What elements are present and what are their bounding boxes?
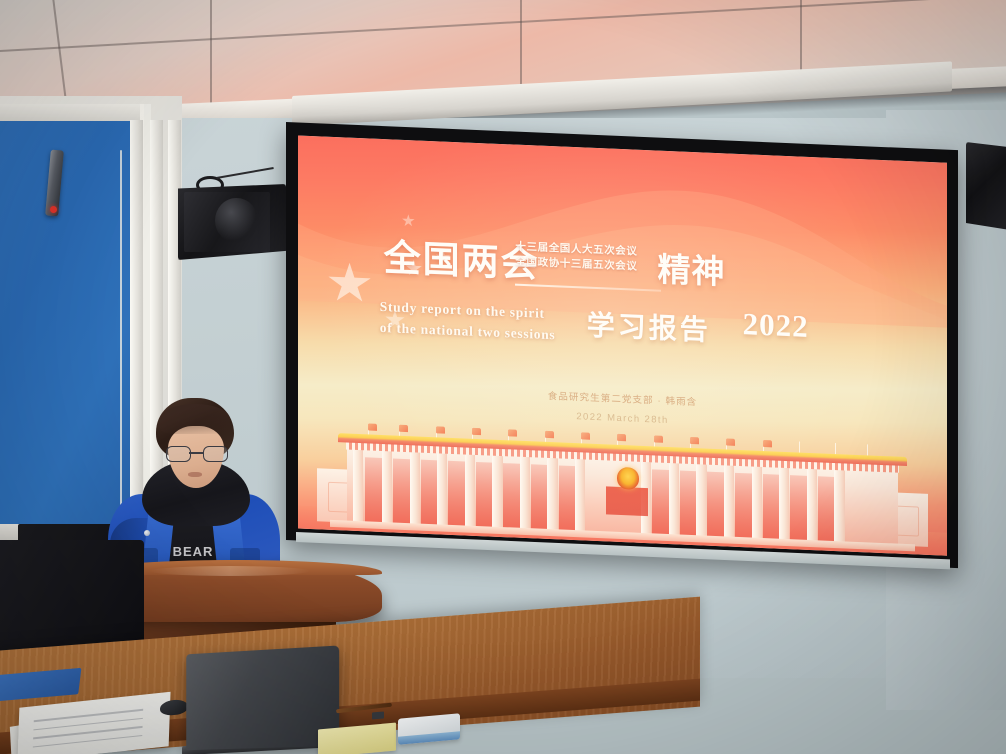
speaker-cone bbox=[215, 198, 258, 244]
mobile-phone[interactable] bbox=[398, 713, 460, 744]
projection-screen: 全国两会 十三届全国人大五次会议 全国政协十三届五次会议 精神 Study re… bbox=[286, 122, 958, 568]
presentation-slide: 全国两会 十三届全国人大五次会议 全国政协十三届五次会议 精神 Study re… bbox=[298, 136, 947, 556]
presenter-hair-fringe bbox=[160, 404, 230, 434]
laptop-lid[interactable] bbox=[186, 645, 339, 750]
jacket-button bbox=[144, 530, 150, 536]
slide-org-line: 食品研究生第二党支部 · 韩雨含 bbox=[548, 388, 698, 408]
meeting-room-photo: 全国两会 十三届全国人大五次会议 全国政协十三届五次会议 精神 Study re… bbox=[0, 0, 1006, 754]
binder-clip[interactable] bbox=[372, 711, 384, 719]
blind-headrail bbox=[0, 104, 140, 121]
screen-surface: 全国两会 十三届全国人大五次会议 全国政协十三届五次会议 精神 Study re… bbox=[298, 136, 947, 556]
slide-report-label: 学习报告 bbox=[587, 303, 711, 348]
phone-case-band bbox=[398, 731, 460, 744]
wall-speaker-right bbox=[966, 142, 1006, 230]
slide-date-line: 2022 March 28th bbox=[576, 412, 668, 427]
presenter-mouth bbox=[188, 472, 202, 477]
slide-title-spirit: 精神 bbox=[658, 243, 726, 294]
slide-year: 2022 bbox=[743, 307, 809, 346]
slide-subtitle-en: Study report on the spirit of the nation… bbox=[380, 297, 556, 345]
eyeglasses-icon bbox=[166, 446, 226, 460]
lectern-highlight bbox=[150, 566, 310, 576]
wall-speaker-left bbox=[178, 184, 286, 260]
microphone-led-icon bbox=[50, 206, 57, 213]
slide-subtitle-cn: 十三届全国人大五次会议 全国政协十三届五次会议 bbox=[515, 240, 637, 275]
